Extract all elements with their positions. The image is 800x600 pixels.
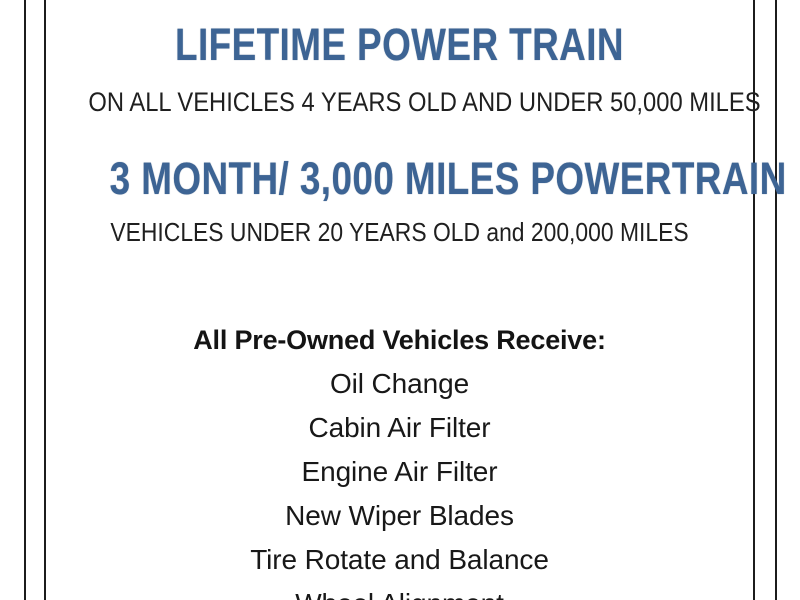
list-item: Oil Change: [46, 370, 753, 398]
border-rule-right-outer: [775, 0, 777, 600]
list-item: Engine Air Filter: [46, 458, 753, 486]
border-rule-left-outer: [24, 0, 26, 600]
services-section: All Pre-Owned Vehicles Receive: Oil Chan…: [46, 327, 753, 600]
warranty-subtitle-3month: VEHICLES UNDER 20 YEARS OLD and 200,000 …: [88, 219, 710, 245]
warranty-subtitle-lifetime: ON ALL VEHICLES 4 YEARS OLD AND UNDER 50…: [88, 89, 710, 116]
service-list: Oil Change Cabin Air Filter Engine Air F…: [46, 370, 753, 600]
list-item: New Wiper Blades: [46, 502, 753, 530]
warranty-title-lifetime: LIFETIME POWER TRAIN: [110, 22, 690, 67]
warranty-offer-lifetime: LIFETIME POWER TRAIN ON ALL VEHICLES 4 Y…: [46, 22, 753, 116]
list-item: Tire Rotate and Balance: [46, 546, 753, 574]
warranty-title-3month: 3 MONTH/ 3,000 MILES POWERTRAIN: [110, 156, 690, 201]
list-item: Cabin Air Filter: [46, 414, 753, 442]
warranty-flyer: LIFETIME POWER TRAIN ON ALL VEHICLES 4 Y…: [0, 0, 800, 600]
warranty-offer-3month: 3 MONTH/ 3,000 MILES POWERTRAIN VEHICLES…: [46, 156, 753, 245]
flyer-content: LIFETIME POWER TRAIN ON ALL VEHICLES 4 Y…: [46, 0, 753, 600]
list-item: Wheel Alignment: [46, 590, 753, 600]
services-heading: All Pre-Owned Vehicles Receive:: [46, 327, 753, 354]
